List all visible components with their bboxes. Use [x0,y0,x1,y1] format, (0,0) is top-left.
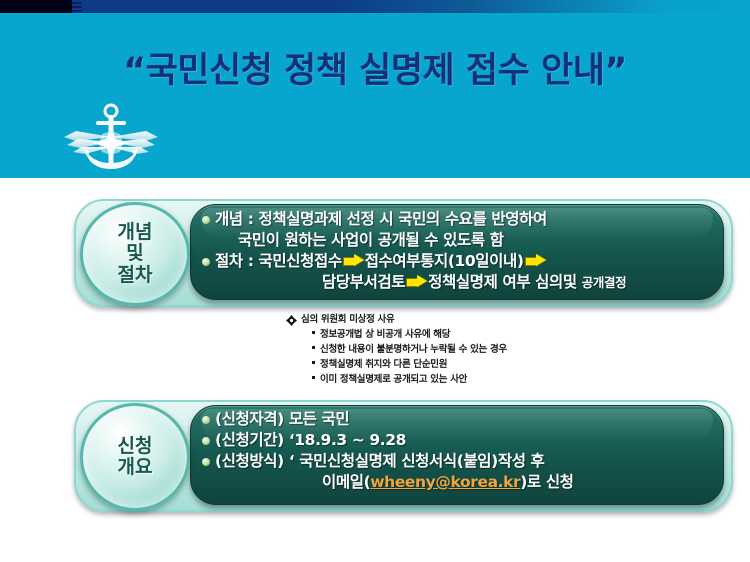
header-strip-black-segment [0,0,72,13]
bullet-dot-icon [202,258,210,266]
procedure-label: 절차 : [215,252,259,270]
procedure-step-1: 국민신청접수 [259,252,342,270]
period-label: (신청기간) [215,431,289,449]
application-bullet-eligibility: (신청자격) 모든 국민 [202,409,574,430]
method-label: (신청방식) [215,452,289,470]
application-badge: 신청 개요 [80,403,190,511]
note-item-text: 정책실명제 취지와 다른 단순민원 [320,359,447,370]
note-heading-row: 심의 위원회 미상정 사유 [286,314,507,327]
bullet-dot-icon [202,458,210,466]
procedure-step-2: 접수여부통지(10일이내) [365,252,524,270]
concept-panel-text: 개념 : 정책실명과제 선정 시 국민의 수요를 반영하여 국민이 원하는 사업… [202,209,626,293]
eligibility-label: (신청자격) [215,410,289,428]
korea-ministry-of-national-defense-emblem-icon [60,101,162,179]
email-suffix: )로 신청 [520,473,573,491]
note-item-text: 정보공개법 상 비공개 사유에 해당 [320,329,450,340]
procedure-step-3: 담당부서검토 [322,273,405,291]
arrow-right-icon [525,254,546,267]
eligibility-value: 모든 국민 [289,410,349,428]
concept-bullet-procedure: 절차 : 국민신청접수접수여부통지(10일이내) [202,251,626,272]
note-item-text: 신청한 내용이 불분명하거나 누락될 수 있는 경우 [320,344,507,355]
note-heading-text: 심의 위원회 미상정 사유 [301,314,394,327]
note-item: 이미 정책실명제로 공개되고 있는 사안 [286,374,507,387]
note-item: 정보공개법 상 비공개 사유에 해당 [286,329,507,342]
definition-line-2-row: 국민이 원하는 사업이 공개될 수 있도록 함 [202,230,626,251]
square-bullet-icon [312,361,315,364]
application-bullet-period: (신청기간) ‘18.9.3 ~ 9.28 [202,430,574,451]
arrow-right-icon [343,254,364,267]
method-line-2-row: 이메일(wheeny@korea.kr)로 신청 [202,472,574,493]
square-bullet-icon [312,331,315,334]
definition-line-2: 국민이 원하는 사업이 공개될 수 있도록 함 [238,231,504,249]
header-strip-dotted-segment [72,0,82,13]
arrow-right-icon [406,275,427,288]
email-prefix: 이메일( [322,473,370,491]
definition-line-1: 정책실명과제 선정 시 국민의 수요를 반영하여 [259,210,547,228]
email-link[interactable]: wheeny@korea.kr [370,473,520,491]
note-item: 신청한 내용이 불분명하거나 누락될 수 있는 경우 [286,344,507,357]
application-panel-text: (신청자격) 모든 국민 (신청기간) ‘18.9.3 ~ 9.28 (신청방식… [202,409,574,493]
concept-badge-line-1: 개념 [118,222,153,243]
period-value: ‘18.9.3 ~ 9.28 [289,431,406,449]
bullet-dot-icon [202,437,210,445]
square-bullet-icon [312,346,315,349]
note-item: 정책실명제 취지와 다른 단순민원 [286,359,507,372]
committee-exclusion-note: 심의 위원회 미상정 사유 정보공개법 상 비공개 사유에 해당 신청한 내용이… [286,314,507,387]
diamond-bullet-icon [286,315,297,326]
presentation-slide: “국민신청 정책 실명제 접수 안내” [0,0,750,562]
concept-badge-line-2: 및 [126,243,143,264]
concept-bullet-definition: 개념 : 정책실명과제 선정 시 국민의 수요를 반영하여 [202,209,626,230]
header-accent-strip [0,0,750,13]
concept-badge-line-3: 절차 [118,265,153,286]
application-badge-line-2: 개요 [118,457,153,478]
slide-title: “국민신청 정책 실명제 접수 안내” [0,42,750,93]
bullet-dot-icon [202,216,210,224]
procedure-line-2-row: 담당부서검토정책실명제 여부 심의및 공개결정 [202,272,626,293]
procedure-step-4: 정책실명제 여부 심의및 [428,273,582,291]
method-value: ‘ 국민신청실명제 신청서식(붙임)작성 후 [289,452,545,470]
concept-badge: 개념 및 절차 [80,202,190,306]
application-badge-line-1: 신청 [118,436,153,457]
slide-bottom-margin [0,548,750,562]
application-bullet-method: (신청방식) ‘ 국민신청실명제 신청서식(붙임)작성 후 [202,451,574,472]
square-bullet-icon [312,376,315,379]
note-item-text: 이미 정책실명제로 공개되고 있는 사안 [320,374,467,385]
definition-label: 개념 : [215,210,259,228]
bullet-dot-icon [202,416,210,424]
procedure-step-4-tail: 공개결정 [582,275,626,290]
